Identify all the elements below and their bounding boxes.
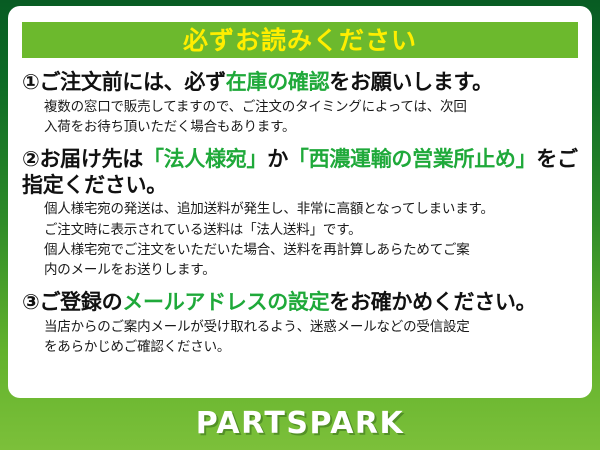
notice-item-2-heading-emphasis-2: 「西濃運輸の営業所止め」 [288,147,536,171]
notice-list: ①ご注文前には、必ず在庫の確認をお願いします。 複数の窓口で販売してますので、ご… [22,70,578,357]
notice-item-3-heading-part-3: をお確かめください。 [329,290,536,314]
title-banner: 必ずお読みください [22,22,578,58]
notice-item-2-heading: ②お届け先は「法人様宛」か「西濃運輸の営業所止め」をご指定ください。 [22,147,578,198]
notice-item-3-body-line-2: をあらかじめご確認ください。 [44,337,578,357]
notice-item-1-heading-part-3: をお願いします。 [329,70,493,94]
notice-item-1-body-line-2: 入荷をお待ち頂いただく場合もあります。 [44,117,578,137]
notice-item-3-body-line-1: 当店からのご案内メールが受け取れるよう、迷惑メールなどの受信設定 [44,317,578,337]
notice-item-2-body-line-2: ご注文時に表示されている送料は「法人送料」です。 [44,220,578,240]
notice-item-2-heading-emphasis-1: 「法人様宛」 [143,147,267,171]
notice-item-2: ②お届け先は「法人様宛」か「西濃運輸の営業所止め」をご指定ください。 個人様宅宛… [22,147,578,280]
page-title: 必ずお読みください [183,28,417,53]
notice-item-2-body: 個人様宅宛の発送は、追加送料が発生し、非常に高額となってしまいます。 ご注文時に… [22,199,578,280]
notice-item-1-heading: ①ご注文前には、必ず在庫の確認をお願いします。 [22,70,578,96]
notice-frame: 必ずお読みください ①ご注文前には、必ず在庫の確認をお願いします。 複数の窓口で… [0,0,600,450]
notice-item-2-marker: ② [22,147,39,171]
notice-item-3-heading-part-1: ご登録の [39,290,122,314]
notice-item-1-body-line-1: 複数の窓口で販売してますので、ご注文のタイミングによっては、次回 [44,97,578,117]
notice-item-3-heading: ③ご登録のメールアドレスの設定をお確かめください。 [22,290,578,316]
notice-item-1-marker: ① [22,70,39,94]
notice-item-2-heading-part-3: か [267,147,288,171]
notice-item-2-body-line-4: 内のメールをお送りします。 [44,260,578,280]
notice-item-3-heading-emphasis: メールアドレスの設定 [122,290,329,314]
notice-item-3: ③ご登録のメールアドレスの設定をお確かめください。 当店からのご案内メールが受け… [22,290,578,357]
brand-logo: PARTSPARK [196,409,405,439]
notice-footer: PARTSPARK [0,398,600,450]
notice-item-2-heading-part-1: お届け先は [39,147,143,171]
notice-item-1-body: 複数の窓口で販売してますので、ご注文のタイミングによっては、次回 入荷をお待ち頂… [22,97,578,138]
notice-item-3-body: 当店からのご案内メールが受け取れるよう、迷惑メールなどの受信設定 をあらかじめご… [22,317,578,358]
notice-item-1-heading-part-1: ご注文前には、必ず [39,70,225,94]
notice-panel: 必ずお読みください ①ご注文前には、必ず在庫の確認をお願いします。 複数の窓口で… [8,6,592,398]
notice-item-2-body-line-1: 個人様宅宛の発送は、追加送料が発生し、非常に高額となってしまいます。 [44,199,578,219]
notice-item-2-body-line-3: 個人様宅宛でご注文をいただいた場合、送料を再計算しあらためてご案 [44,240,578,260]
notice-item-3-marker: ③ [22,290,39,314]
notice-item-1: ①ご注文前には、必ず在庫の確認をお願いします。 複数の窓口で販売してますので、ご… [22,70,578,137]
notice-item-1-heading-emphasis: 在庫の確認 [226,70,330,94]
